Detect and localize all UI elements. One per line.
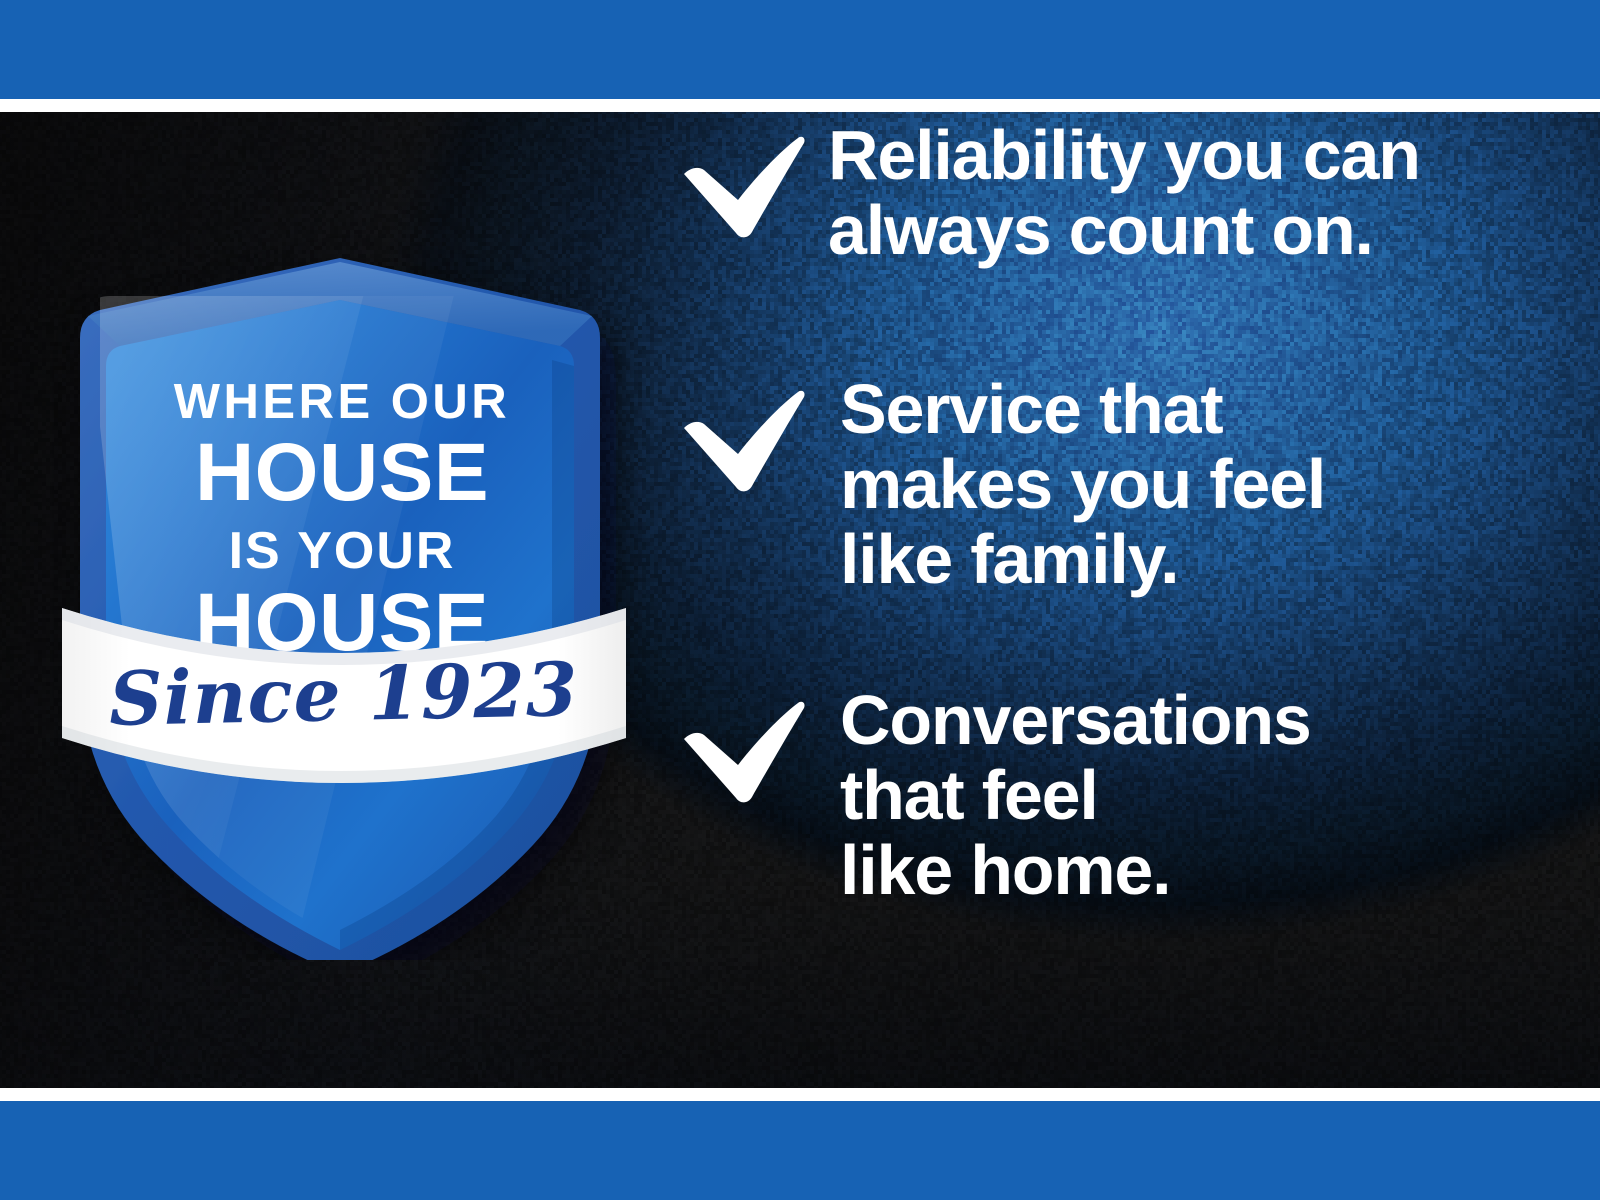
- list-item: Reliability you can always count on.: [668, 118, 1420, 268]
- shield-emblem: WHERE OUR HOUSE IS YOUR HOUSE Since 1923: [40, 150, 650, 960]
- top-brand-bar: [0, 0, 1600, 99]
- list-item: Conversations that feel like home.: [668, 683, 1311, 908]
- list-item-text: Service that makes you feel like family.: [808, 372, 1325, 597]
- tagline-line-1: WHERE OUR: [174, 375, 510, 429]
- bottom-divider: [0, 1088, 1600, 1101]
- bottom-brand-bar: [0, 1101, 1600, 1200]
- tagline-line-2: HOUSE: [195, 427, 489, 518]
- tagline-line-3: IS YOUR: [229, 522, 456, 580]
- list-item: Service that makes you feel like family.: [668, 372, 1325, 597]
- top-divider: [0, 99, 1600, 112]
- list-item-text: Reliability you can always count on.: [808, 118, 1420, 268]
- checkmark-icon: [668, 380, 808, 500]
- list-item-text: Conversations that feel like home.: [808, 683, 1311, 908]
- promo-poster: WHERE OUR HOUSE IS YOUR HOUSE Since 1923: [0, 0, 1600, 1200]
- checkmark-icon: [668, 691, 808, 811]
- checkmark-icon: [668, 126, 808, 246]
- ribbon-text: Since 1923: [108, 647, 579, 743]
